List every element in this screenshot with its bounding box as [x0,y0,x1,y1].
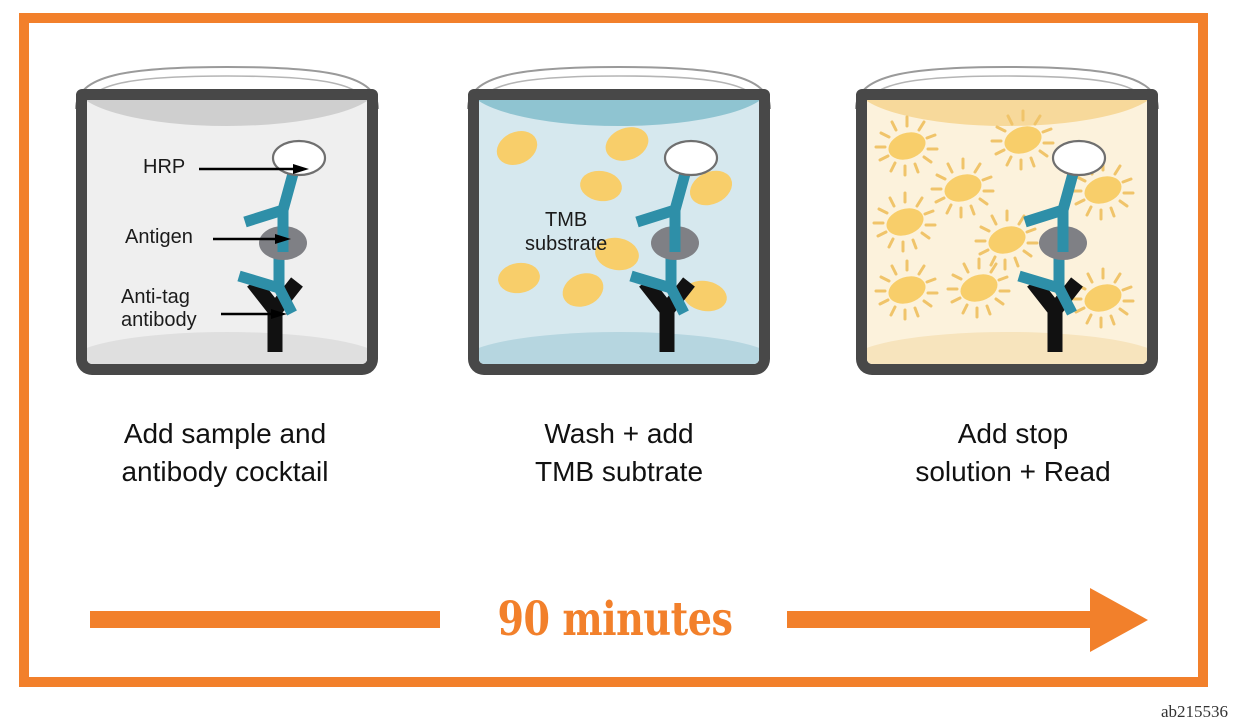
well-step-1: HRP Antigen Anti-tag antibody [72,65,382,375]
immune-complex-step-2 [479,100,759,364]
timeline-bar-left [90,611,440,628]
elisa-workflow-figure: HRP Antigen Anti-tag antibody [0,0,1234,720]
arrow-to-hrp-icon [199,163,309,175]
label-hrp: HRP [143,156,185,179]
label-antigen: Antigen [125,226,193,249]
well-step-3 [852,65,1162,375]
label-anti-tag-antibody: Anti-tag antibody [121,286,197,332]
well-body-step-2: TMB substrate [468,89,770,375]
caption-step-1: Add sample and antibody cocktail [15,415,435,491]
timeline-duration-label: 90 minutes [458,580,773,660]
timeline-bar-right [787,611,1097,628]
timeline-arrow: 90 minutes [0,580,1234,660]
timeline-arrowhead-icon [1090,588,1148,652]
label-tmb-substrate: TMB substrate [525,208,607,256]
arrow-to-anti-tag-antibody-icon [221,308,287,320]
well-body-step-3 [856,89,1158,375]
hrp-enzyme-icon [665,141,717,175]
caption-step-3: Add stop solution + Read [803,415,1223,491]
arrow-to-antigen-icon [213,233,291,245]
well-body-step-1: HRP Antigen Anti-tag antibody [76,89,378,375]
caption-step-2: Wash + add TMB subtrate [409,415,829,491]
immune-complex-step-3 [867,100,1147,364]
product-code: ab215536 [1161,702,1228,722]
hrp-enzyme-icon [1053,141,1105,175]
well-step-2: TMB substrate [464,65,774,375]
